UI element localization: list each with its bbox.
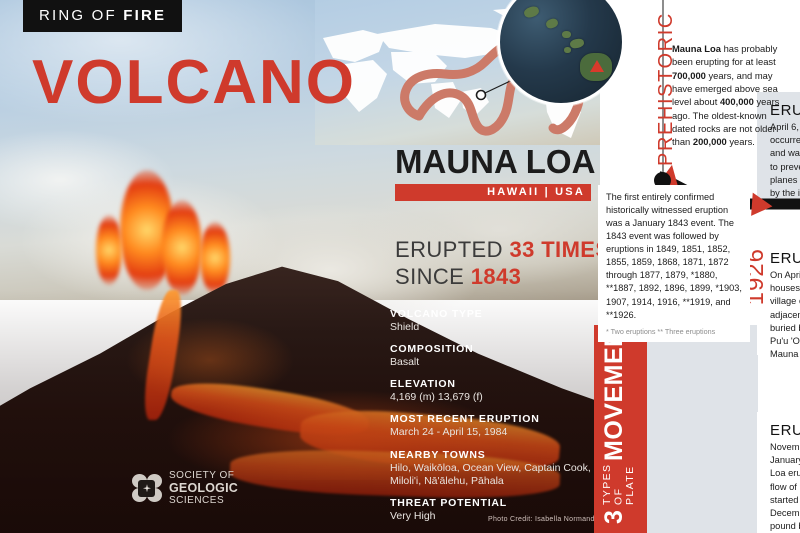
fact-value: March 24 - April 15, 1984 — [390, 426, 595, 439]
eruption-card-heading: ERUPTION — [770, 422, 800, 439]
since-prefix: SINCE — [395, 264, 471, 289]
fact-key: MOST RECENT ERUPTION — [390, 413, 595, 425]
fact-key: THREAT POTENTIAL — [390, 497, 595, 509]
ring-of-fire-banner: RING OF FIRE — [23, 0, 182, 32]
logo-line-2: GEOLOGIC — [169, 481, 238, 495]
plates-title-number: 3 — [602, 510, 627, 524]
island-oahu — [545, 17, 559, 30]
fact-value: 4,169 (m) 13,679 (f) — [390, 391, 595, 404]
eruption-1843-footnote: * Two eruptions ** Three eruptions — [606, 327, 744, 336]
fact-most-recent-eruption: MOST RECENT ERUPTION March 24 - April 15… — [390, 413, 595, 439]
fact-value: Basalt — [390, 356, 595, 369]
logo-line-3: SCIENCES — [169, 495, 238, 506]
eruption-card-body: November 1935 - January 1936 Mauna Loa e… — [770, 441, 800, 533]
fact-elevation: ELEVATION 4,169 (m) 13,679 (f) — [390, 378, 595, 404]
ring-of-fire-label-light: RING OF — [39, 7, 123, 24]
fact-list: VOLCANO TYPE Shield COMPOSITION Basalt E… — [390, 308, 595, 532]
prehistoric-description: Mauna Loa has probably been erupting for… — [672, 42, 780, 149]
eruption-card-1935: ERUPTION November 1935 - January 1936 Ma… — [757, 412, 800, 533]
fact-value: Shield — [390, 321, 595, 334]
fact-composition: COMPOSITION Basalt — [390, 343, 595, 369]
page-title: VOLCANO — [32, 52, 356, 114]
logo-line-1: SOCIETY OF — [169, 470, 238, 481]
eruption-1843-text: The first entirely confirmed historicall… — [606, 191, 744, 322]
fact-nearby-towns: NEARBY TOWNS Hilo, Waikōloa, Ocean View,… — [390, 449, 595, 488]
subject-location: HAWAII | USA — [487, 186, 585, 198]
fact-key: ELEVATION — [390, 378, 595, 390]
plates-title-small: TYPES OF PLATE — [602, 463, 637, 507]
subject-title-block: MAUNA LOA HAWAII | USA — [395, 145, 595, 201]
lava-fountain-center — [162, 200, 202, 295]
volcano-location-marker — [590, 60, 604, 72]
fact-key: NEARBY TOWNS — [390, 449, 595, 461]
fact-volcano-type: VOLCANO TYPE Shield — [390, 308, 595, 334]
island-molokai — [562, 31, 571, 38]
logo-text: SOCIETY OF GEOLOGIC SCIENCES — [169, 470, 238, 506]
fact-key: VOLCANO TYPE — [390, 308, 595, 320]
plate-movements-title: 3 TYPES OF PLATE MOVEMENTS — [602, 334, 637, 524]
island-kauai — [523, 5, 540, 19]
eruption-1843-card: The first entirely confirmed historicall… — [598, 185, 750, 342]
society-logo: SOCIETY OF GEOLOGIC SCIENCES — [132, 470, 238, 506]
eruption-card-body: On April 18, 1926 houses and a fishing v… — [770, 269, 800, 361]
erupted-prefix: ERUPTED — [395, 237, 509, 262]
lava-fountain-far-left — [96, 215, 122, 285]
volcano-infographic-poster: VOLCANO RING OF FIRE — [0, 0, 800, 533]
island-lanai — [564, 47, 571, 53]
fact-key: COMPOSITION — [390, 343, 595, 355]
ring-of-fire-label-bold: FIRE — [123, 7, 166, 24]
fact-value: Hilo, Waikōloa, Ocean View, Captain Cook… — [390, 462, 595, 488]
eruption-summary: ERUPTED 33 TIMES SINCE 1843 — [395, 237, 610, 291]
lava-fountain-right — [200, 222, 230, 294]
photo-credit: Photo Credit: Isabella Normandin — [488, 516, 601, 523]
subject-name: MAUNA LOA — [395, 145, 595, 178]
island-maui — [569, 38, 585, 50]
since-year: 1843 — [471, 264, 522, 289]
erupted-count: 33 TIMES — [509, 237, 610, 262]
location-bar: HAWAII | USA — [395, 184, 591, 201]
logo-mark-icon — [132, 474, 162, 502]
